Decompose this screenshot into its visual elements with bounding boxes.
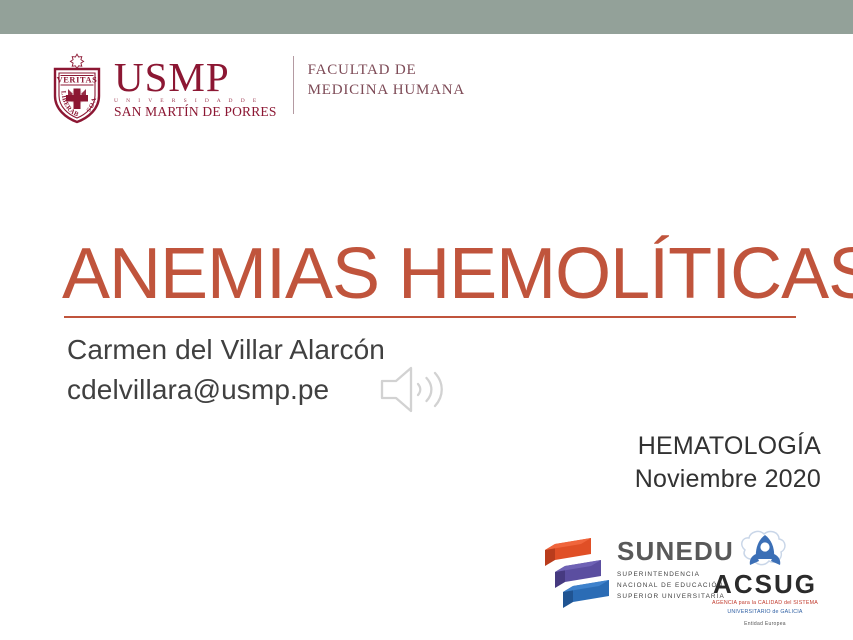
- faculty-line-2: MEDICINA HUMANA: [308, 80, 465, 100]
- title-underline: [64, 316, 796, 318]
- acsug-rocket-icon: [709, 528, 821, 573]
- acsug-desc-line-2: UNIVERSITARIO de GALICIA: [709, 608, 821, 617]
- svg-text:VERITAS: VERITAS: [57, 76, 98, 85]
- usmp-tagline: U N I V E R S I D A D D E: [114, 98, 277, 104]
- faculty-line-1: FACULTAD DE: [308, 60, 465, 80]
- top-banner: [0, 0, 853, 34]
- course-block: HEMATOLOGÍA Noviembre 2020: [635, 430, 821, 495]
- logo-divider: [293, 56, 294, 114]
- author-name: Carmen del Villar Alarcón: [67, 330, 385, 370]
- usmp-shield-icon: VERITAS LIBERABIT: [50, 52, 104, 124]
- acsug-entity: Entidad Europea: [709, 621, 821, 627]
- usmp-university-name: SAN MARTÍN DE PORRES: [114, 104, 277, 120]
- slide-title: ANEMIAS HEMOLÍTICAS: [62, 238, 802, 310]
- acsug-desc-line-1: AGENCIA para la CALIDAD del SISTEMA: [709, 599, 821, 608]
- usmp-acronym: USMP: [114, 58, 277, 97]
- course-date: Noviembre 2020: [635, 463, 821, 496]
- acsug-logo: ACSUG AGENCIA para la CALIDAD del SISTEM…: [709, 528, 821, 627]
- author-email: cdelvillara@usmp.pe: [67, 370, 385, 410]
- author-block: Carmen del Villar Alarcón cdelvillara@us…: [67, 330, 385, 410]
- acsug-name: ACSUG: [709, 571, 821, 597]
- acsug-description: AGENCIA para la CALIDAD del SISTEMA UNIV…: [709, 599, 821, 617]
- course-name: HEMATOLOGÍA: [635, 430, 821, 463]
- speaker-icon[interactable]: [378, 362, 452, 417]
- usmp-logo: VERITAS LIBERABIT: [50, 52, 465, 124]
- presentation-slide: VERITAS LIBERABIT: [0, 0, 853, 640]
- faculty-name: FACULTAD DE MEDICINA HUMANA: [308, 52, 465, 101]
- usmp-wordmark: USMP U N I V E R S I D A D D E SAN MARTÍ…: [114, 52, 277, 120]
- sunedu-blocks-icon: [541, 530, 613, 608]
- sunedu-logo: SUNEDU SUPERINTENDENCIA NACIONAL DE EDUC…: [541, 530, 734, 608]
